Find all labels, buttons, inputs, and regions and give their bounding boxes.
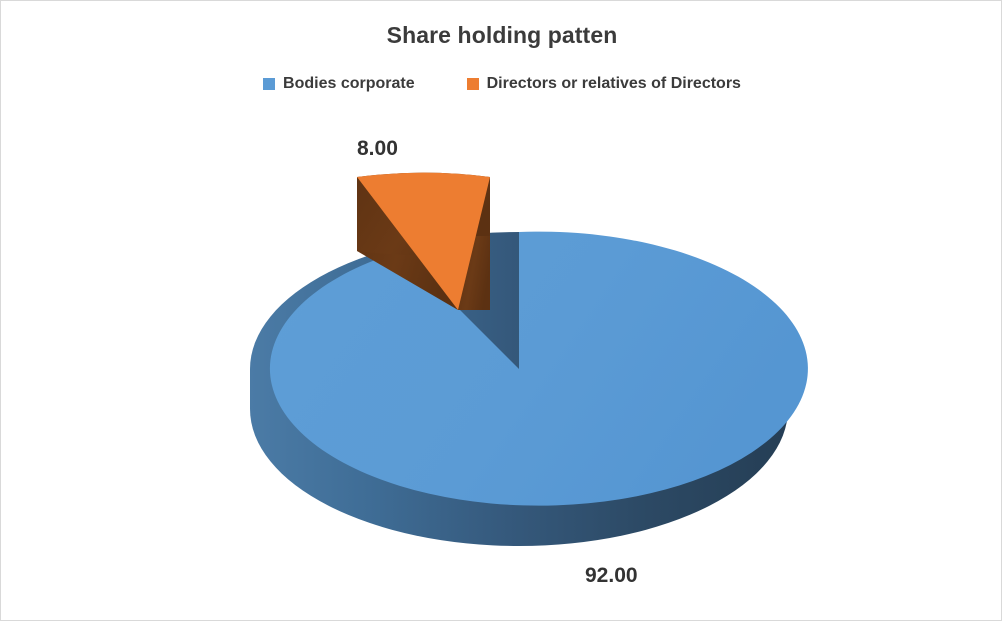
chart-container: Share holding patten Bodies corporate Di…	[0, 0, 1002, 621]
data-label-directors: 8.00	[357, 137, 398, 161]
pie-chart-graphic	[1, 1, 1002, 621]
pie-slice-bodies-corporate-top	[270, 232, 808, 506]
data-label-bodies-corporate: 92.00	[585, 564, 638, 588]
pie-slice-bodies-corporate[interactable]	[250, 232, 808, 546]
